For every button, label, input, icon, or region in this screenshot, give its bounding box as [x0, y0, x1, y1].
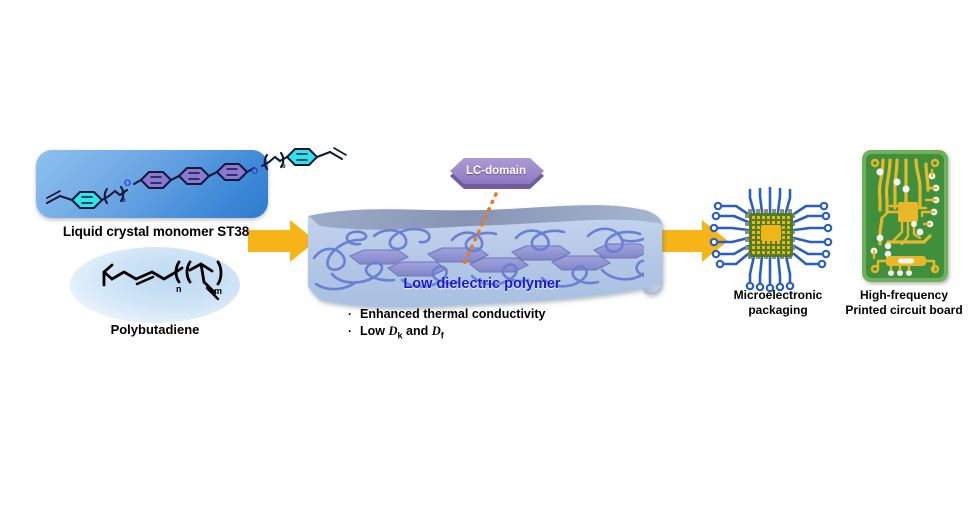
slab-caption: Low dielectric polymer: [382, 276, 582, 292]
chip-center-die: [761, 225, 781, 241]
lc-domain-callout: LC-domain: [448, 152, 608, 282]
pcb-center-chip: [898, 202, 918, 222]
feature-bullet-list: · Enhanced thermal conductivity · Low Dk…: [348, 306, 608, 345]
microelectronic-packaging-graphic: .tr { stroke:#2a5fc2; stroke-width:2.6; …: [706, 186, 836, 296]
caption-line-2: packaging: [718, 303, 838, 318]
bullet-item-2: · Low Dk and Df: [348, 323, 608, 345]
caption-line-2: Printed circuit board: [830, 303, 978, 318]
bullet-marker: ·: [348, 306, 360, 323]
pcb-component: [886, 256, 926, 266]
bullet-item-1: · Enhanced thermal conductivity: [348, 306, 608, 323]
chip-traces-bottom: [747, 256, 793, 291]
svg-text:m: m: [214, 286, 222, 296]
graphical-abstract-figure: .bond { stroke:#16183a; stroke-width:2.1…: [0, 0, 980, 512]
df-symbol: D: [432, 324, 441, 338]
chip-traces-left: [711, 203, 748, 267]
bullet-text-prefix: Low: [360, 324, 388, 338]
caption-line-1: High-frequency: [830, 288, 978, 303]
bullet-text-mid: and: [403, 324, 432, 338]
df-subscript: f: [441, 331, 444, 341]
printed-circuit-board-graphic: .gtr { stroke:#e8b72a; stroke-width:3.2;…: [858, 146, 954, 286]
svg-text:n: n: [176, 284, 182, 294]
chip-traces-right: [794, 203, 831, 267]
bullet-text: Enhanced thermal conductivity: [360, 306, 545, 323]
microelectronic-packaging-caption: Microelectronic packaging: [718, 288, 838, 318]
caption-line-1: Microelectronic: [718, 288, 838, 303]
lc-domain-label: LC-domain: [448, 156, 544, 186]
bullet-marker: ·: [348, 323, 360, 340]
dk-symbol: D: [388, 324, 397, 338]
printed-circuit-board-caption: High-frequency Printed circuit board: [830, 288, 978, 318]
chip-traces-top: [750, 188, 790, 212]
polybutadiene-label: Polybutadiene: [85, 322, 225, 337]
leader-line: [464, 194, 496, 264]
